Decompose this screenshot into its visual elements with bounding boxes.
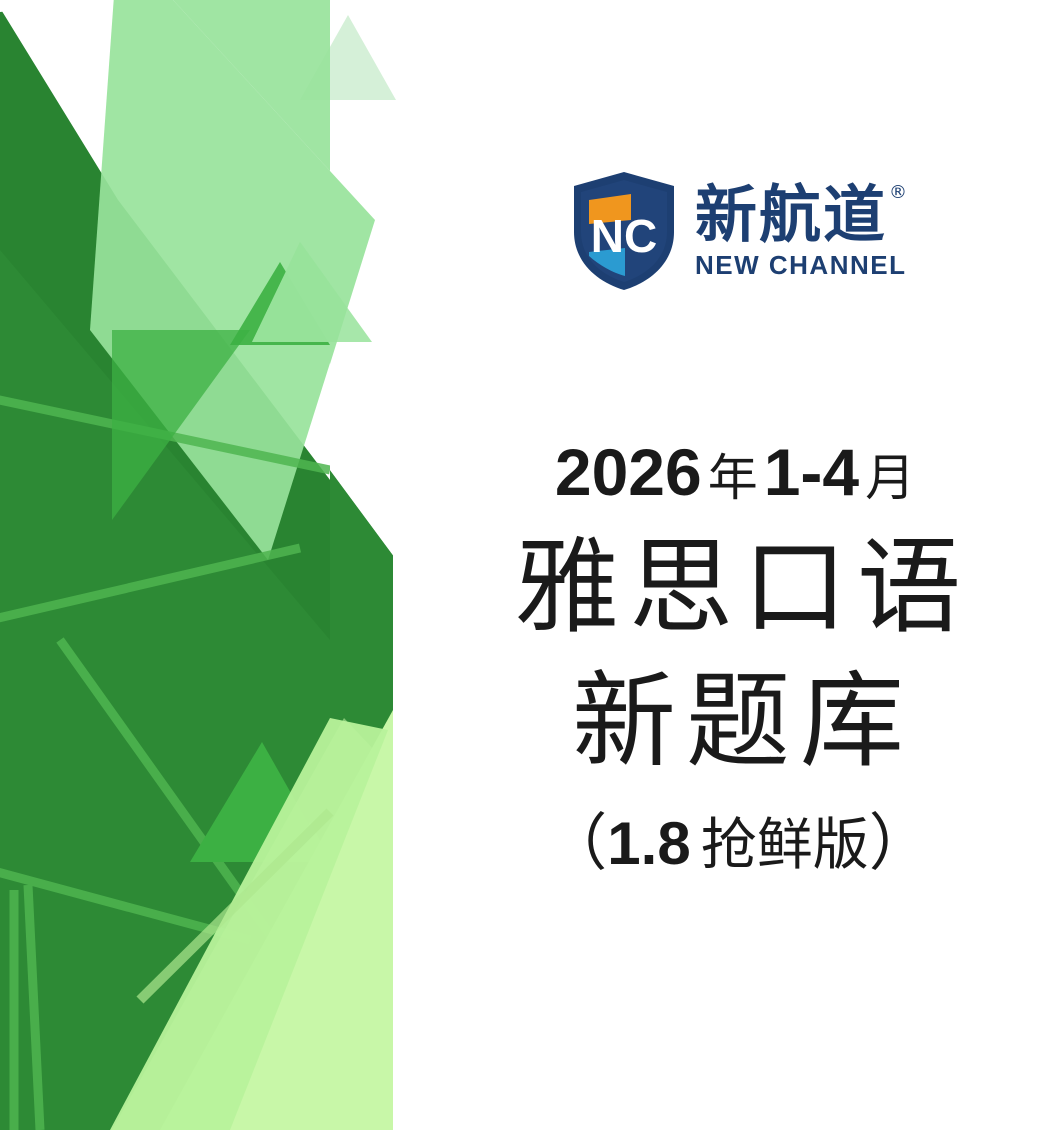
title-year: 2026: [555, 435, 702, 509]
book-cover-page: NC 新航道 ® NEW CHANNEL 2026年1-4月 雅思口语 新题库 …: [0, 0, 1056, 1130]
title-month-unit: 月: [865, 449, 915, 507]
title-months: 1-4: [764, 435, 859, 509]
decor-band-wash: [112, 718, 393, 1130]
decor-diamond-tip-restore: [118, 0, 375, 364]
title-year-unit: 年: [708, 449, 758, 507]
decor-stripe-on-band: [140, 812, 330, 1000]
wordmark-cjk: 新航道: [695, 182, 887, 248]
nc-shield-logo-icon: NC: [569, 170, 679, 292]
title-edition-line: （1.8抢鲜版）: [420, 788, 1056, 901]
decor-band-pale: [110, 718, 388, 1130]
cover-content-column: NC 新航道 ® NEW CHANNEL 2026年1-4月 雅思口语 新题库 …: [420, 0, 1056, 1130]
decor-triangle-mid-right: [230, 262, 330, 345]
decor-band-paler: [238, 728, 393, 1130]
decor-dark-green-body: [0, 8, 330, 1130]
decor-diamond-group: [90, 0, 375, 1130]
edition-open-paren: （: [545, 806, 607, 879]
decor-top-left-notch-2: [0, 0, 112, 12]
decor-triangle-bottom-small: [288, 822, 332, 862]
decor-triangle-bottom-bright: [190, 742, 330, 862]
decor-stripe-1: [0, 398, 330, 470]
decor-triangle-mid-left: [112, 330, 250, 520]
decor-triangle-pale-top-restore: [300, 15, 396, 100]
edition-close-paren: ）: [869, 806, 931, 879]
brand-wordmark: 新航道 ® NEW CHANNEL: [695, 182, 907, 280]
shield-letters: NC: [591, 210, 657, 262]
title-main-line-2: 新题库: [420, 654, 1056, 788]
decor-stripe-4: [0, 870, 250, 940]
decor-triangle-light-restore: [252, 242, 372, 342]
decor-triangle-light-upper: [252, 242, 372, 342]
title-main-line-1: 雅思口语: [420, 520, 1056, 654]
title-date-line: 2026年1-4月: [420, 430, 1056, 520]
edition-version: 1.8: [607, 810, 690, 877]
edition-label: 抢鲜版: [701, 813, 869, 878]
decor-deep-shade: [0, 8, 330, 640]
decor-triangle-pale-top: [300, 15, 396, 100]
decor-stripe-3: [60, 640, 345, 1040]
decor-band-palest: [160, 710, 393, 1130]
decor-light-diamond: [90, 0, 375, 560]
cover-title-block: 2026年1-4月 雅思口语 新题库 （1.8抢鲜版）: [420, 430, 1056, 901]
decor-stripe-6: [28, 885, 40, 1130]
decor-stripe-lines: [0, 398, 345, 1130]
wordmark-latin: NEW CHANNEL: [695, 250, 907, 280]
decor-stripe-2: [0, 548, 300, 620]
brand-logo: NC 新航道 ® NEW CHANNEL: [420, 170, 1056, 292]
registered-mark-icon: ®: [889, 184, 907, 202]
